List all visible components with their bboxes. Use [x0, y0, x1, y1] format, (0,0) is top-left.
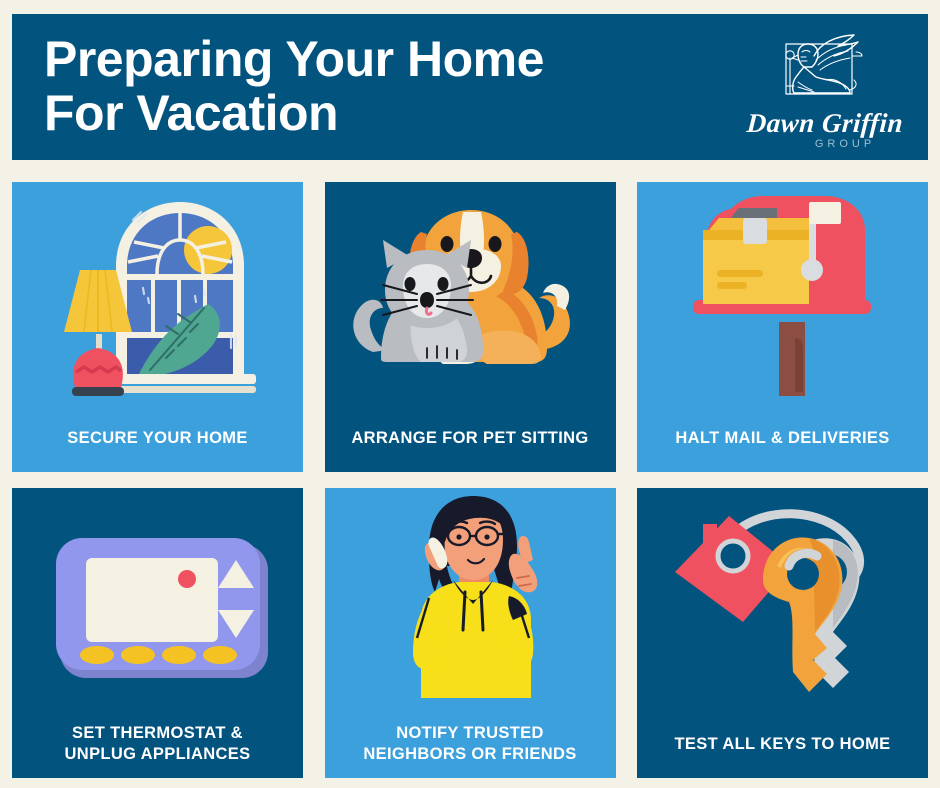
card-label: SET THERMOSTAT & UNPLUG APPLIANCES — [59, 716, 257, 778]
brand-logo: Dawn Griffin GROUP — [740, 32, 910, 160]
card-set-thermostat-unplug-appliances[interactable]: SET THERMOSTAT & UNPLUG APPLIANCES — [12, 488, 303, 778]
card-arrange-for-pet-sitting[interactable]: ARRANGE FOR PET SITTING — [325, 182, 616, 472]
page-title: Preparing Your Home For Vacation — [44, 32, 684, 140]
window-lamp-icon — [12, 182, 303, 410]
griffin-emblem-icon — [768, 32, 880, 112]
card-label: ARRANGE FOR PET SITTING — [345, 410, 594, 472]
brand-subtitle: GROUP — [780, 139, 910, 150]
woman-on-phone-icon — [325, 488, 616, 716]
dog-cat-icon — [325, 182, 616, 410]
card-notify-trusted-neighbors-or-friends[interactable]: NOTIFY TRUSTED NEIGHBORS OR FRIENDS — [325, 488, 616, 778]
infographic-root: Preparing Your Home For Vacation — [0, 0, 940, 788]
house-keys-icon — [637, 488, 928, 716]
brand-name: Dawn Griffin — [739, 110, 911, 137]
brand-wordmark: Dawn Griffin GROUP — [740, 110, 910, 150]
card-test-all-keys-to-home[interactable]: TEST ALL KEYS TO HOME — [637, 488, 928, 778]
tips-grid: SECURE YOUR HOME — [12, 182, 928, 778]
card-halt-mail-and-deliveries[interactable]: HALT MAIL & DELIVERIES — [637, 182, 928, 472]
header-bar: Preparing Your Home For Vacation — [12, 14, 928, 160]
card-secure-your-home[interactable]: SECURE YOUR HOME — [12, 182, 303, 472]
card-label: TEST ALL KEYS TO HOME — [668, 716, 896, 778]
card-label: SECURE YOUR HOME — [61, 410, 253, 472]
thermostat-icon — [12, 488, 303, 716]
mailbox-package-icon — [637, 182, 928, 410]
card-label: NOTIFY TRUSTED NEIGHBORS OR FRIENDS — [357, 716, 582, 778]
card-label: HALT MAIL & DELIVERIES — [669, 410, 895, 472]
